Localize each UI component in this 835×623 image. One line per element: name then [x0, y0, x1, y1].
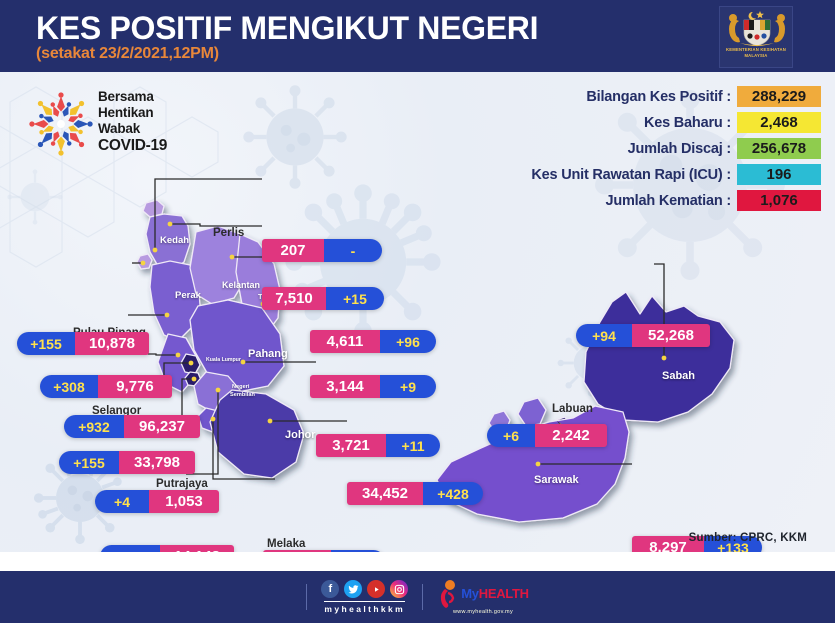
social-handle: myhealthkkm	[324, 601, 405, 614]
data-bar-labuan: +62,242	[487, 424, 607, 447]
total-cases-negeri-sembilan: 14,148	[160, 545, 234, 552]
new-cases-kelantan: +96	[380, 330, 436, 353]
data-bar-johor: 34,452+428	[347, 482, 483, 505]
data-bar-perak: +3089,776	[40, 375, 172, 398]
social-media-block: f myhealthkkm	[321, 580, 408, 614]
data-bar-kelantan: 4,611+96	[310, 330, 436, 353]
new-cases-labuan: +6	[487, 424, 535, 447]
total-cases-pahang: 3,721	[316, 434, 386, 457]
source-note: Sumber: CPRC, KKM	[689, 532, 807, 544]
new-cases-perlis: -	[324, 239, 382, 262]
total-cases-putrajaya: 1,053	[149, 490, 219, 513]
total-cases-perlis: 207	[262, 239, 324, 262]
ministry-name-line2: MALAYSIA	[720, 53, 792, 59]
total-cases-sabah: 52,268	[632, 324, 710, 347]
new-cases-kuala-lumpur: +155	[59, 451, 119, 474]
data-bar-pahang: 3,721+11	[316, 434, 440, 457]
page-subtitle: (setakat 23/2/2021,12PM)	[36, 46, 219, 62]
data-bar-perlis: 207-	[262, 239, 382, 262]
new-cases-pulau-pinang: +155	[17, 332, 75, 355]
ministry-of-health-logo: KEMENTERIAN KESIHATAN MALAYSIA	[719, 6, 793, 68]
data-bar-negeri-sembilan: +10014,148	[100, 545, 234, 552]
map-stage: Bersama Hentikan Wabak COVID-19 Bilangan…	[0, 72, 835, 552]
header-bar: KES POSITIF MENGIKUT NEGERI (setakat 23/…	[0, 0, 835, 72]
data-bar-melaka: 5,887+22	[263, 550, 385, 552]
total-cases-selangor: 96,237	[124, 415, 200, 438]
total-cases-melaka: 5,887	[263, 550, 331, 552]
malaysia-map: KedahPerakKelantanTerengganuPahangKuala …	[0, 72, 835, 552]
state-johor	[210, 390, 304, 478]
data-bar-putrajaya: +41,053	[95, 490, 219, 513]
bar-label-perlis: Perlis	[213, 227, 244, 239]
new-cases-kedah: +15	[326, 287, 384, 310]
new-cases-melaka: +22	[331, 550, 385, 552]
myhealth-brand-my: My	[461, 586, 478, 601]
myhealth-mascot-icon	[437, 580, 459, 608]
total-cases-labuan: 2,242	[535, 424, 607, 447]
data-bar-kedah: 7,510+15	[262, 287, 384, 310]
total-cases-johor: 34,452	[347, 482, 423, 505]
youtube-icon[interactable]	[367, 580, 385, 598]
myhealth-url: www.myhealth.gov.my	[453, 609, 513, 615]
facebook-icon[interactable]: f	[321, 580, 339, 598]
new-cases-perak: +308	[40, 375, 98, 398]
bar-label-labuan: Labuan	[552, 403, 593, 415]
total-cases-terengganu: 3,144	[310, 375, 380, 398]
bar-label-melaka: Melaka	[267, 538, 305, 550]
malaysia-coat-of-arms-icon	[720, 7, 792, 47]
data-bar-kuala-lumpur: +15533,798	[59, 451, 195, 474]
new-cases-selangor: +932	[64, 415, 124, 438]
state-sabah	[584, 292, 734, 422]
map-svg	[0, 72, 835, 552]
data-bar-sabah: +9452,268	[576, 324, 710, 347]
new-cases-sabah: +94	[576, 324, 632, 347]
footer-divider-left	[306, 584, 307, 610]
myhealth-brand-health: HEALTH	[479, 586, 529, 601]
infographic-root: KES POSITIF MENGIKUT NEGERI (setakat 23/…	[0, 0, 835, 623]
total-cases-kelantan: 4,611	[310, 330, 380, 353]
total-cases-perak: 9,776	[98, 375, 172, 398]
data-bar-pulau-pinang: +15510,878	[17, 332, 149, 355]
data-bar-terengganu: 3,144+9	[310, 375, 436, 398]
new-cases-putrajaya: +4	[95, 490, 149, 513]
bar-label-putrajaya: Putrajaya	[156, 478, 208, 490]
island-small-1	[518, 398, 546, 426]
new-cases-terengganu: +9	[380, 375, 436, 398]
total-cases-kedah: 7,510	[262, 287, 326, 310]
social-icons-row: f	[321, 580, 408, 598]
instagram-icon[interactable]	[390, 580, 408, 598]
page-title: KES POSITIF MENGIKUT NEGERI	[36, 12, 538, 44]
twitter-icon[interactable]	[344, 580, 362, 598]
myhealth-logo[interactable]: My HEALTH www.myhealth.gov.my	[437, 580, 528, 615]
footer-divider-right	[422, 584, 423, 610]
total-cases-kuala-lumpur: 33,798	[119, 451, 195, 474]
new-cases-pahang: +11	[386, 434, 440, 457]
data-bar-selangor: +93296,237	[64, 415, 200, 438]
total-cases-pulau-pinang: 10,878	[75, 332, 149, 355]
new-cases-johor: +428	[423, 482, 483, 505]
new-cases-negeri-sembilan: +100	[100, 545, 160, 552]
footer-bar: f myhealthkkm	[0, 571, 835, 623]
